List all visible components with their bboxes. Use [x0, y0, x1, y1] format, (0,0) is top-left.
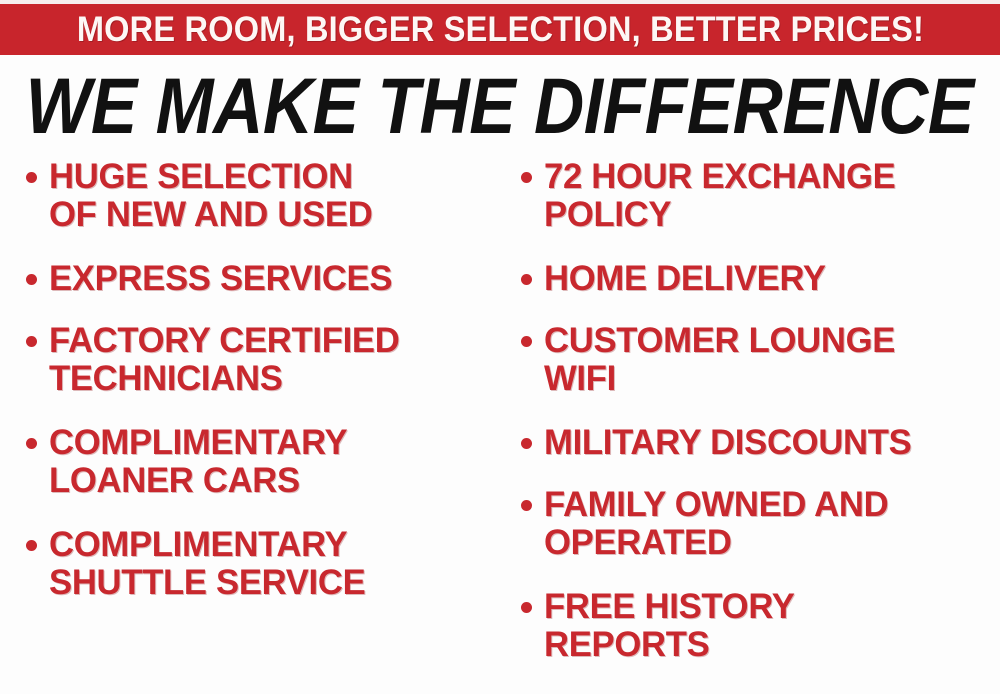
feature-item-line: FAMILY OWNED AND [544, 485, 888, 524]
feature-item-label: COMPLIMENTARYLOANER CARS [49, 424, 347, 500]
feature-item-label: FAMILY OWNED ANDOPERATED [544, 486, 888, 562]
features-columns: HUGE SELECTIONOF NEW AND USEDEXPRESS SER… [0, 158, 1000, 694]
feature-item-line: FACTORY CERTIFIED [49, 321, 399, 360]
headline-banner: MORE ROOM, BIGGER SELECTION, BETTER PRIC… [0, 4, 1000, 55]
feature-item-line: TECHNICIANS [49, 359, 283, 398]
feature-item-line: COMPLIMENTARY [49, 423, 347, 462]
feature-item-line: LOANER CARS [49, 461, 300, 500]
feature-item-label: FACTORY CERTIFIEDTECHNICIANS [49, 322, 399, 398]
feature-item-line: WIFI [544, 359, 616, 398]
feature-item-label: FREE HISTORYREPORTS [544, 588, 795, 664]
feature-item-line: SHUTTLE SERVICE [49, 563, 365, 602]
feature-item: FACTORY CERTIFIEDTECHNICIANS [8, 322, 500, 398]
bullet-dot-icon [26, 438, 37, 449]
feature-item-line: CUSTOMER LOUNGE [544, 321, 895, 360]
bullet-dot-icon [26, 336, 37, 347]
bullet-dot-icon [26, 172, 37, 183]
feature-item: EXPRESS SERVICES [8, 260, 500, 298]
features-column-right: 72 HOUR EXCHANGEPOLICYHOME DELIVERYCUSTO… [505, 158, 1000, 694]
feature-item: 72 HOUR EXCHANGEPOLICY [505, 158, 1000, 234]
feature-item-line: HUGE SELECTION [49, 157, 353, 196]
bullet-dot-icon [521, 274, 532, 285]
feature-item-line: OF NEW AND USED [49, 195, 372, 234]
feature-item-line: OPERATED [544, 523, 732, 562]
bullet-dot-icon [521, 172, 532, 183]
feature-item: COMPLIMENTARYLOANER CARS [8, 424, 500, 500]
bullet-dot-icon [521, 438, 532, 449]
feature-item-label: CUSTOMER LOUNGEWIFI [544, 322, 895, 398]
feature-item: HOME DELIVERY [505, 260, 1000, 298]
feature-item-label: EXPRESS SERVICES [49, 260, 392, 298]
feature-item: COMPLIMENTARYSHUTTLE SERVICE [8, 526, 500, 602]
feature-item-line: MILITARY DISCOUNTS [544, 423, 911, 462]
feature-item-line: REPORTS [544, 625, 709, 664]
feature-item-line: COMPLIMENTARY [49, 525, 347, 564]
feature-item-label: 72 HOUR EXCHANGEPOLICY [544, 158, 895, 234]
feature-item-line: FREE HISTORY [544, 587, 795, 626]
feature-item: FAMILY OWNED ANDOPERATED [505, 486, 1000, 562]
bullet-dot-icon [26, 540, 37, 551]
feature-item-label: HOME DELIVERY [544, 260, 826, 298]
page-title: WE MAKE THE DIFFERENCE [0, 58, 1000, 154]
feature-item: HUGE SELECTIONOF NEW AND USED [8, 158, 500, 234]
feature-item: MILITARY DISCOUNTS [505, 424, 1000, 462]
feature-item: CUSTOMER LOUNGEWIFI [505, 322, 1000, 398]
feature-item-line: EXPRESS SERVICES [49, 259, 392, 298]
features-column-left: HUGE SELECTIONOF NEW AND USEDEXPRESS SER… [8, 158, 500, 694]
page-title-text: WE MAKE THE DIFFERENCE [26, 64, 974, 148]
bullet-dot-icon [26, 274, 37, 285]
feature-item-label: HUGE SELECTIONOF NEW AND USED [49, 158, 372, 234]
feature-item-line: HOME DELIVERY [544, 259, 826, 298]
bullet-dot-icon [521, 602, 532, 613]
feature-item-label: COMPLIMENTARYSHUTTLE SERVICE [49, 526, 365, 602]
bullet-dot-icon [521, 500, 532, 511]
feature-item-line: POLICY [544, 195, 671, 234]
feature-item: FREE HISTORYREPORTS [505, 588, 1000, 664]
promotional-poster: MORE ROOM, BIGGER SELECTION, BETTER PRIC… [0, 0, 1000, 694]
feature-item-line: 72 HOUR EXCHANGE [544, 157, 895, 196]
bullet-dot-icon [521, 336, 532, 347]
headline-banner-text: MORE ROOM, BIGGER SELECTION, BETTER PRIC… [76, 12, 923, 48]
feature-item-label: MILITARY DISCOUNTS [544, 424, 911, 462]
